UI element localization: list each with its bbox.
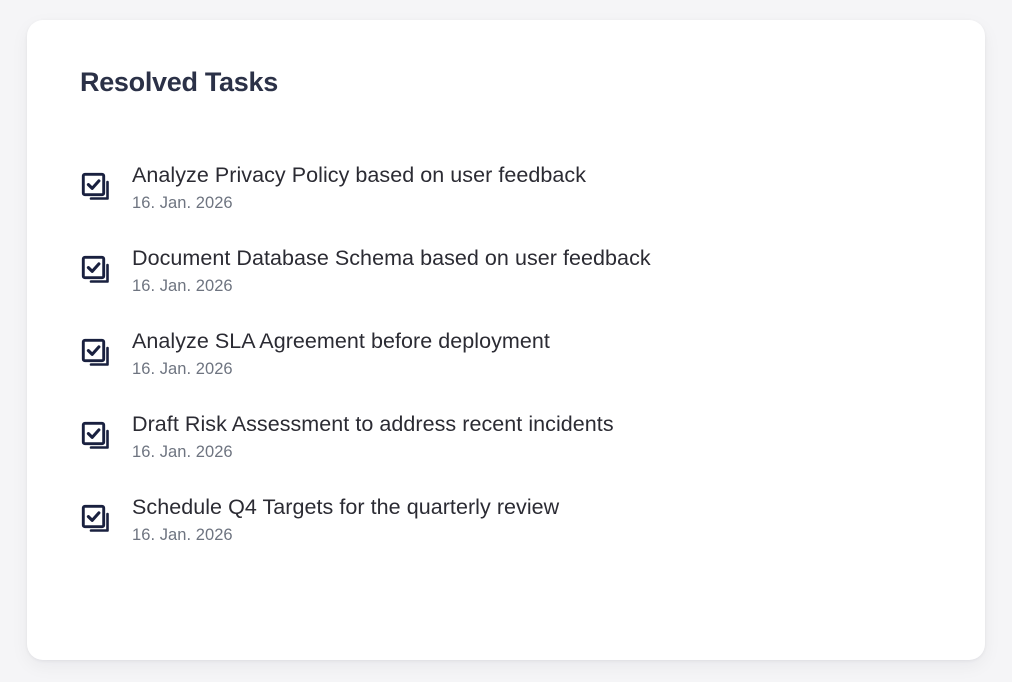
task-date: 16. Jan. 2026 (132, 359, 945, 380)
task-date: 16. Jan. 2026 (132, 193, 945, 214)
task-date: 16. Jan. 2026 (132, 276, 945, 297)
task-title: Analyze SLA Agreement before deployment (132, 328, 945, 356)
task-text-block: Analyze Privacy Policy based on user fee… (132, 162, 945, 214)
task-text-block: Draft Risk Assessment to address recent … (132, 411, 945, 463)
task-title: Document Database Schema based on user f… (132, 245, 945, 273)
list-item[interactable]: Analyze Privacy Policy based on user fee… (80, 154, 945, 222)
stacked-checkbox-icon (80, 337, 114, 371)
page-title: Resolved Tasks (80, 66, 278, 98)
task-title: Schedule Q4 Targets for the quarterly re… (132, 494, 945, 522)
stacked-checkbox-icon (80, 503, 114, 537)
task-title: Draft Risk Assessment to address recent … (132, 411, 945, 439)
list-item[interactable]: Schedule Q4 Targets for the quarterly re… (80, 486, 945, 554)
task-date: 16. Jan. 2026 (132, 442, 945, 463)
list-item[interactable]: Document Database Schema based on user f… (80, 237, 945, 305)
task-text-block: Document Database Schema based on user f… (132, 245, 945, 297)
list-item[interactable]: Draft Risk Assessment to address recent … (80, 403, 945, 471)
task-text-block: Schedule Q4 Targets for the quarterly re… (132, 494, 945, 546)
stacked-checkbox-icon (80, 254, 114, 288)
resolved-tasks-list: Analyze Privacy Policy based on user fee… (80, 154, 945, 554)
stacked-checkbox-icon (80, 420, 114, 454)
task-title: Analyze Privacy Policy based on user fee… (132, 162, 945, 190)
resolved-tasks-card: Resolved Tasks Analyze Privacy Policy ba… (27, 20, 985, 660)
task-text-block: Analyze SLA Agreement before deployment … (132, 328, 945, 380)
list-item[interactable]: Analyze SLA Agreement before deployment … (80, 320, 945, 388)
task-date: 16. Jan. 2026 (132, 525, 945, 546)
app-root: Resolved Tasks Analyze Privacy Policy ba… (0, 0, 1012, 682)
stacked-checkbox-icon (80, 171, 114, 205)
